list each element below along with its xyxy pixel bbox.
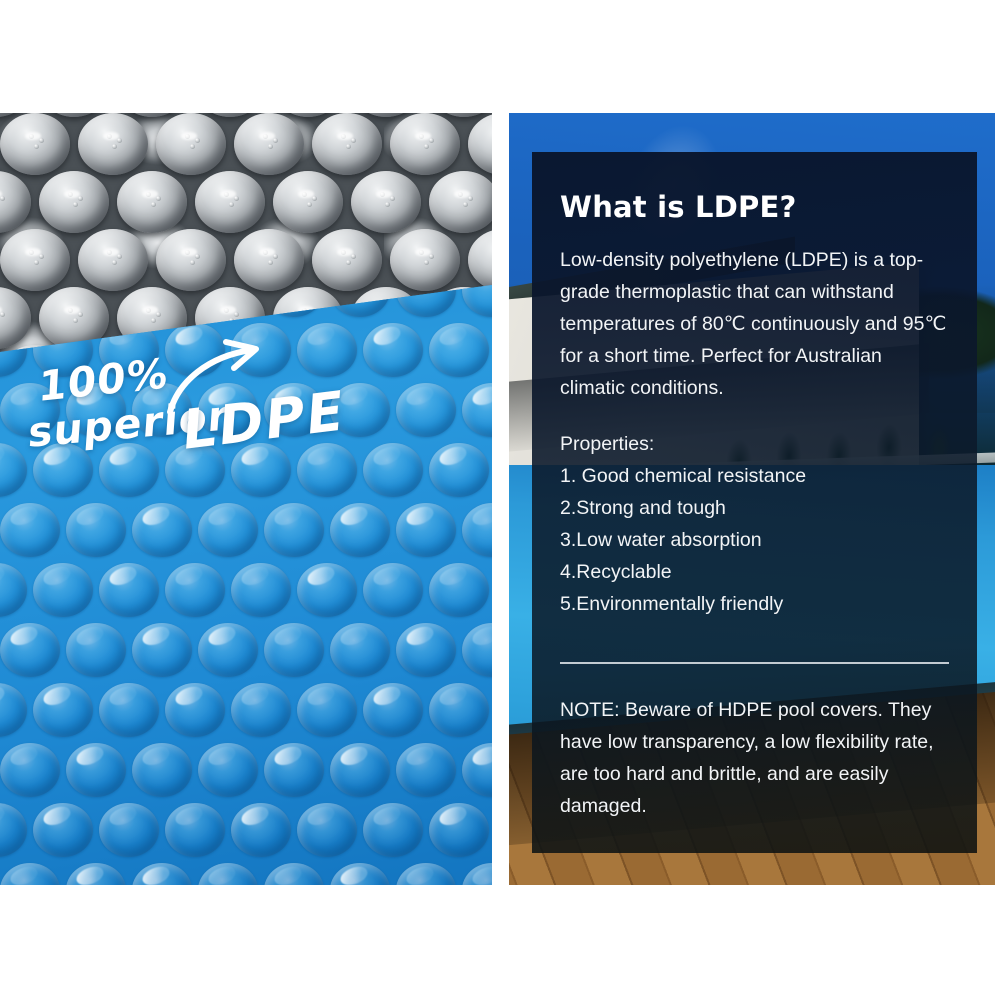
- blue-bubble: [33, 803, 93, 857]
- blue-bubble: [0, 803, 27, 857]
- blue-bubble: [0, 863, 60, 885]
- blue-bubble: [363, 323, 423, 377]
- blue-bubble: [33, 563, 93, 617]
- silver-bubble: [351, 171, 421, 233]
- silver-bubble: [0, 171, 31, 233]
- blue-bubble: [297, 803, 357, 857]
- ldpe-info-card: What is LDPE? Low-density polyethylene (…: [532, 152, 977, 853]
- silver-bubble: [195, 171, 265, 233]
- blue-bubble: [363, 443, 423, 497]
- blue-bubble: [99, 563, 159, 617]
- silver-bubble: [0, 229, 70, 291]
- blue-bubble: [264, 863, 324, 885]
- left-product-photo-panel: 100% superior LDPE: [0, 113, 492, 885]
- blue-bubble: [165, 563, 225, 617]
- blue-bubble: [462, 743, 492, 797]
- silver-bubble: [156, 113, 226, 175]
- list-item: 5.Environmentally friendly: [560, 588, 949, 620]
- silver-bubble: [117, 171, 187, 233]
- blue-bubble: [165, 803, 225, 857]
- blue-bubble: [297, 683, 357, 737]
- blue-bubble: [231, 803, 291, 857]
- blue-bubble: [429, 443, 489, 497]
- silver-bubble: [234, 229, 304, 291]
- blue-bubble: [198, 743, 258, 797]
- curved-arrow-icon: [164, 338, 274, 420]
- properties-list: 1. Good chemical resistance 2.Strong and…: [560, 460, 949, 620]
- blue-bubble: [462, 623, 492, 677]
- handwritten-overlay: 100% superior LDPE: [22, 356, 352, 466]
- card-title: What is LDPE?: [560, 190, 949, 224]
- card-paragraph: Low-density polyethylene (LDPE) is a top…: [560, 244, 949, 404]
- blue-bubble: [66, 623, 126, 677]
- blue-bubble: [330, 623, 390, 677]
- blue-bubble: [99, 683, 159, 737]
- silver-bubble: [0, 113, 70, 175]
- blue-bubble: [33, 683, 93, 737]
- blue-bubble: [132, 623, 192, 677]
- card-divider: [560, 662, 949, 664]
- silver-bubble: [234, 113, 304, 175]
- blue-bubble: [231, 683, 291, 737]
- blue-bubble: [132, 503, 192, 557]
- blue-bubble: [363, 563, 423, 617]
- silver-bubble: [0, 287, 31, 349]
- blue-bubble: [99, 803, 159, 857]
- blue-bubble: [0, 683, 27, 737]
- right-info-panel: What is LDPE? Low-density polyethylene (…: [509, 113, 995, 885]
- blue-bubble: [264, 743, 324, 797]
- list-item: 2.Strong and tough: [560, 492, 949, 524]
- blue-bubble: [297, 563, 357, 617]
- blue-bubble: [462, 503, 492, 557]
- blue-bubble: [132, 743, 192, 797]
- blue-bubble: [0, 743, 60, 797]
- blue-bubble: [231, 563, 291, 617]
- blue-bubble: [363, 683, 423, 737]
- blue-bubble: [264, 503, 324, 557]
- blue-bubble: [429, 683, 489, 737]
- blue-bubble: [0, 503, 60, 557]
- blue-bubble: [66, 743, 126, 797]
- blue-bubble: [429, 323, 489, 377]
- silver-bubble: [468, 113, 492, 175]
- silver-bubble: [156, 229, 226, 291]
- silver-bubble: [429, 171, 492, 233]
- silver-bubble: [39, 171, 109, 233]
- blue-bubble: [330, 743, 390, 797]
- silver-bubble: [390, 229, 460, 291]
- blue-bubble: [330, 503, 390, 557]
- blue-bubble: [264, 623, 324, 677]
- blue-bubble: [396, 743, 456, 797]
- blue-bubble: [66, 503, 126, 557]
- blue-bubble: [132, 863, 192, 885]
- blue-bubble: [0, 623, 60, 677]
- blue-bubble: [198, 863, 258, 885]
- card-note: NOTE: Beware of HDPE pool covers. They h…: [560, 694, 949, 822]
- blue-bubble: [363, 803, 423, 857]
- product-infographic: 100% superior LDPE What is LDPE? Low-den…: [0, 0, 1000, 1000]
- silver-bubble: [78, 229, 148, 291]
- blue-bubble: [396, 863, 456, 885]
- list-item: 1. Good chemical resistance: [560, 460, 949, 492]
- blue-bubble: [0, 563, 27, 617]
- list-item: 4.Recyclable: [560, 556, 949, 588]
- blue-bubble: [330, 863, 390, 885]
- blue-bubble: [462, 383, 492, 437]
- properties-label: Properties:: [560, 428, 949, 460]
- silver-bubble: [312, 229, 382, 291]
- blue-bubble: [462, 863, 492, 885]
- blue-bubble: [198, 623, 258, 677]
- blue-bubble: [396, 503, 456, 557]
- blue-bubble: [165, 683, 225, 737]
- blue-bubble: [429, 563, 489, 617]
- silver-bubble: [468, 229, 492, 291]
- blue-bubble: [429, 803, 489, 857]
- blue-bubble: [396, 623, 456, 677]
- list-item: 3.Low water absorption: [560, 524, 949, 556]
- blue-bubble: [66, 863, 126, 885]
- silver-bubble: [78, 113, 148, 175]
- silver-bubble: [312, 113, 382, 175]
- silver-bubble: [390, 113, 460, 175]
- silver-bubble: [273, 171, 343, 233]
- blue-bubble: [198, 503, 258, 557]
- blue-bubble: [396, 383, 456, 437]
